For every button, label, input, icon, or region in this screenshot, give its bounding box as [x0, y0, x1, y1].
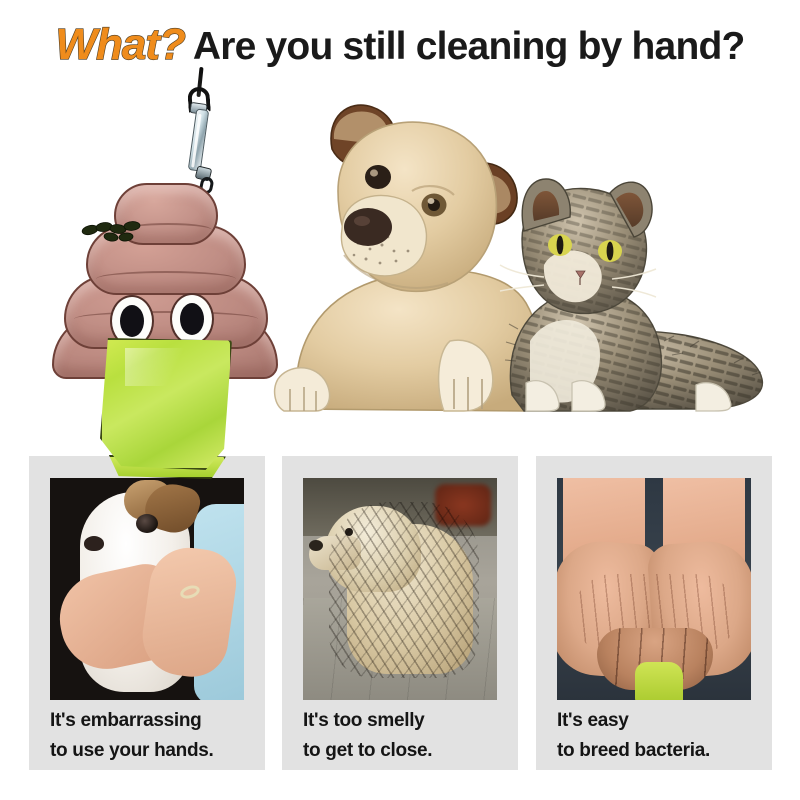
benefit-cards-row: It's embarrassing to use your hands.	[0, 456, 800, 771]
puppy-eye	[136, 514, 158, 533]
bag-print-graphic	[78, 217, 156, 243]
hero-section	[0, 75, 800, 445]
caption-line-2: to breed bacteria.	[557, 736, 757, 766]
card-caption: It's too smelly to get to close.	[303, 706, 503, 766]
dog-fur-texture	[329, 502, 479, 678]
green-waste-bag	[100, 338, 232, 470]
pupil	[120, 305, 144, 337]
green-bag-peek	[635, 662, 683, 700]
puppy-in-hands-photo	[50, 478, 244, 700]
scruffy-wet-dog-photo	[303, 478, 497, 700]
card-bacteria: It's easy to breed bacteria.	[536, 456, 772, 770]
caption-line-1: It's easy	[557, 706, 757, 736]
dog-and-cat-photo	[272, 79, 772, 439]
pupil	[180, 303, 204, 335]
cupped-dirty-hands-photo	[557, 478, 751, 700]
caption-line-1: It's embarrassing	[50, 706, 250, 736]
googly-eye-right	[170, 293, 214, 345]
poop-emoji-body	[52, 183, 278, 383]
caption-line-2: to get to close.	[303, 736, 503, 766]
product-infographic-page: What?Are you still cleaning by hand?	[0, 0, 800, 800]
card-caption: It's easy to breed bacteria.	[557, 706, 757, 766]
carabiner-body	[188, 108, 210, 171]
dog-nose	[309, 540, 323, 551]
caption-line-2: to use your hands.	[50, 736, 250, 766]
card-caption: It's embarrassing to use your hands.	[50, 706, 250, 766]
dog-and-cat-illustration	[272, 79, 772, 439]
poop-swirl-line	[74, 311, 258, 327]
card-embarrassing: It's embarrassing to use your hands.	[29, 456, 265, 770]
poop-emoji-bag-dispenser	[40, 75, 290, 445]
page-title: What?Are you still cleaning by hand?	[0, 22, 800, 70]
puppy-nose	[84, 536, 104, 551]
card-smelly: It's too smelly to get to close.	[282, 456, 518, 770]
headline-emphasis: What?	[55, 20, 184, 69]
caption-line-1: It's too smelly	[303, 706, 503, 736]
poop-swirl-line	[96, 271, 236, 287]
headline-rest: Are you still cleaning by hand?	[193, 25, 745, 68]
